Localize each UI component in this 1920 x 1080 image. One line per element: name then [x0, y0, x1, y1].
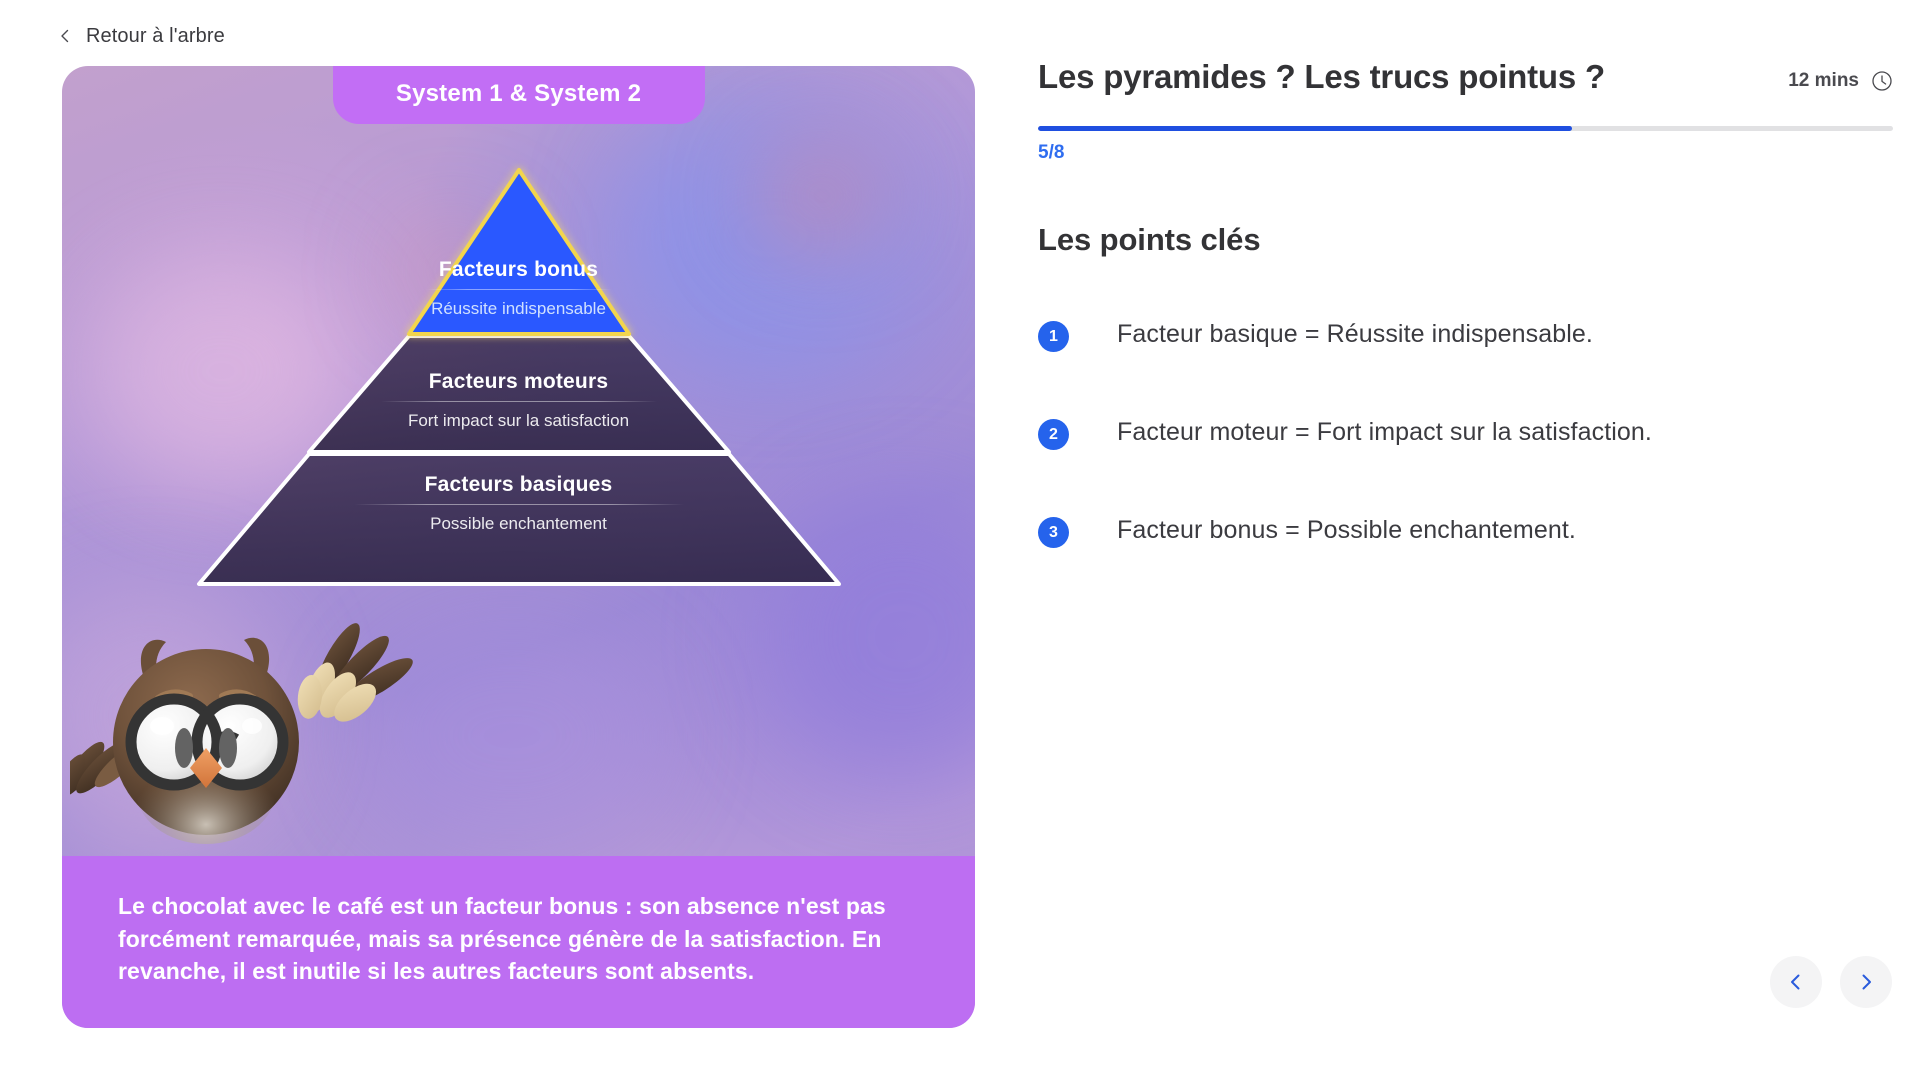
caption-bubble: Le chocolat avec le café est un facteur … — [62, 856, 975, 1028]
progress-bar-fill — [1038, 126, 1572, 131]
key-point-text: Facteur bonus = Possible enchantement. — [1117, 514, 1576, 547]
section-title: Les points clés — [1038, 222, 1260, 258]
owl-head — [113, 649, 299, 835]
page-title: Les pyramides ? Les trucs pointus ? — [1038, 58, 1605, 96]
key-point-number-badge: 2 — [1038, 419, 1069, 450]
slide-title-chip: System 1 & System 2 — [333, 66, 705, 124]
slide-navigation — [1770, 956, 1892, 1008]
key-point-number-badge: 1 — [1038, 321, 1069, 352]
pyramid-tier-middle — [309, 336, 729, 452]
owl-wing-right — [283, 622, 425, 735]
duration-indicator: 12 mins — [1788, 58, 1893, 92]
owl-beak — [190, 748, 222, 788]
duration-label: 12 mins — [1788, 70, 1859, 92]
background-blob — [62, 586, 282, 846]
chevron-left-icon — [1786, 972, 1806, 992]
key-point-row: 3Facteur bonus = Possible enchantement. — [1038, 514, 1868, 548]
pyramid-tier-top — [409, 170, 629, 334]
key-point-row: 1Facteur basique = Réussite indispensabl… — [1038, 318, 1868, 352]
owl-glasses-icon — [131, 699, 283, 785]
pyramid-tier-bottom — [199, 454, 839, 584]
progress-count: 5/8 — [1038, 142, 1064, 164]
progress-bar — [1038, 126, 1893, 131]
detail-panel: Les pyramides ? Les trucs pointus ? 12 m… — [1038, 0, 1920, 1080]
key-point-text: Facteur basique = Réussite indispensable… — [1117, 318, 1593, 351]
owl-wing-left — [70, 721, 149, 831]
key-point-text: Facteur moteur = Fort impact sur la sati… — [1117, 416, 1652, 449]
key-point-row: 2Facteur moteur = Fort impact sur la sat… — [1038, 416, 1868, 450]
clock-icon — [1871, 70, 1893, 92]
slide-title-chip-label: System 1 & System 2 — [396, 80, 641, 107]
panel-header: Les pyramides ? Les trucs pointus ? 12 m… — [1038, 58, 1893, 96]
back-to-tree-link[interactable]: Retour à l'arbre — [58, 25, 225, 48]
background-blob — [362, 626, 662, 846]
chevron-left-icon — [58, 29, 72, 43]
owl-belly — [136, 736, 276, 844]
slide-viewer-app: Retour à l'arbre System 1 & System 2 — [0, 0, 1920, 1080]
key-points-list: 1Facteur basique = Réussite indispensabl… — [1038, 318, 1868, 612]
back-to-tree-label: Retour à l'arbre — [86, 25, 225, 48]
previous-slide-button[interactable] — [1770, 956, 1822, 1008]
owl-ear-tufts — [141, 638, 269, 680]
key-point-number-badge: 3 — [1038, 517, 1069, 548]
slide-card: System 1 & System 2 — [62, 66, 975, 1028]
chevron-right-icon — [1856, 972, 1876, 992]
owl-mascot-icon — [70, 622, 470, 852]
next-slide-button[interactable] — [1840, 956, 1892, 1008]
caption-text: Le chocolat avec le café est un facteur … — [118, 890, 919, 988]
pyramid-diagram: Facteurs bonus Réussite indispensable Fa… — [189, 158, 849, 594]
